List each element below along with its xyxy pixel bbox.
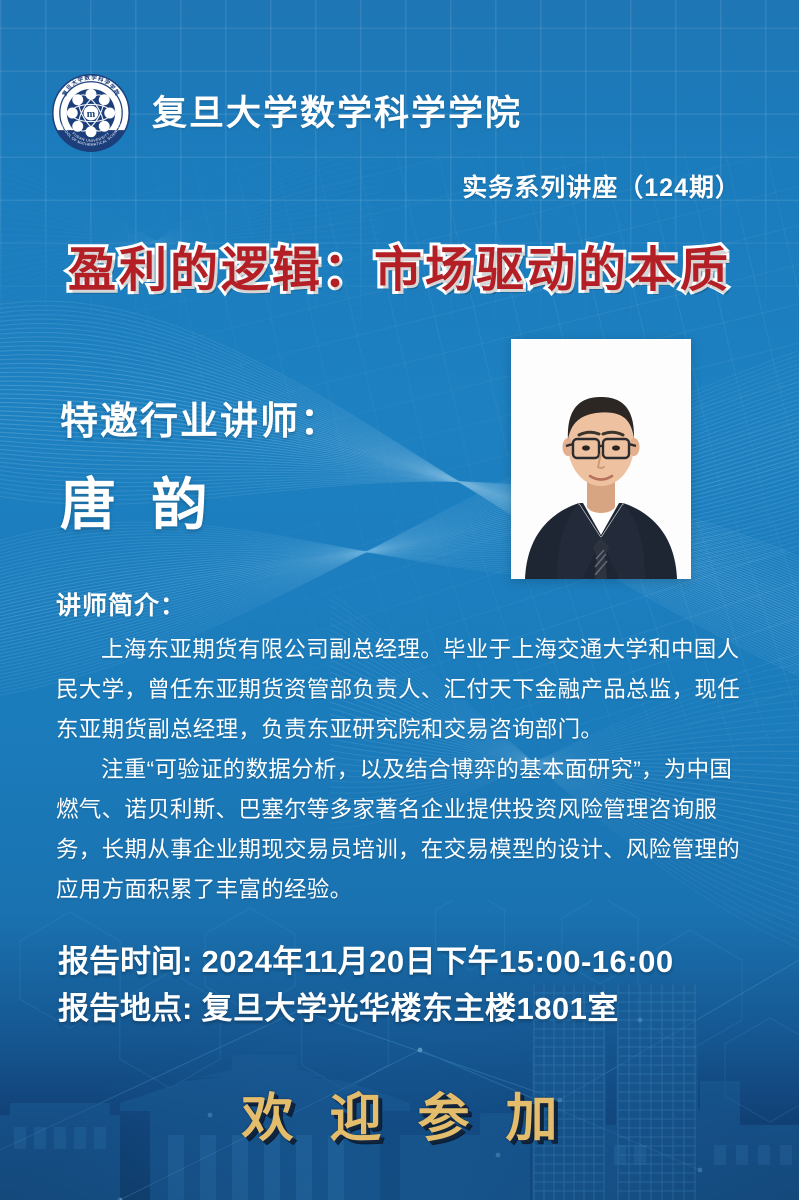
welcome-message: 欢迎参加 (0, 1076, 799, 1151)
bio-paragraph: 上海东亚期货有限公司副总经理。毕业于上海交通大学和中国人民大学，曾任东亚期货资管… (56, 630, 746, 750)
lecture-time-value: 2024年11月20日下午15:00-16:00 (201, 944, 673, 979)
lecture-info: 报告时间: 2024年11月20日下午15:00-16:00 报告地点: 复旦大… (58, 938, 674, 1032)
speaker-label: 特邀行业讲师： (60, 390, 340, 445)
lecture-place-value: 复旦大学光华楼东主楼1801室 (201, 991, 618, 1026)
speaker-portrait-illustration (511, 339, 691, 579)
bio-paragraph: 注重“可验证的数据分析，以及结合博弈的基本面研究”，为中国燃气、诺贝利斯、巴塞尔… (56, 750, 746, 910)
lecture-time-label: 报告时间: (58, 944, 192, 979)
speaker-name: 唐 韵 (60, 460, 218, 541)
lecture-series-label: 实务系列讲座（124期） (462, 168, 741, 204)
lecture-poster: m 复旦大学数学科学学院 SCHOOL OF MATHEMATICAL SCIE… (0, 0, 799, 1200)
speaker-bio-body: 上海东亚期货有限公司副总经理。毕业于上海交通大学和中国人民大学，曾任东亚期货资管… (56, 630, 746, 910)
fudan-math-school-seal-icon: m 复旦大学数学科学学院 SCHOOL OF MATHEMATICAL SCIE… (52, 74, 130, 152)
organization-name: 复旦大学数学科学学院 (152, 96, 522, 131)
lecture-place-label: 报告地点: (58, 991, 192, 1026)
lecture-place-row: 报告地点: 复旦大学光华楼东主楼1801室 (58, 985, 674, 1032)
svg-text:m: m (87, 109, 96, 120)
poster-title: 盈利的逻辑：市场驱动的本质 (0, 230, 799, 300)
poster-header: m 复旦大学数学科学学院 SCHOOL OF MATHEMATICAL SCIE… (52, 74, 522, 152)
speaker-portrait-photo (511, 339, 691, 579)
speaker-bio-heading: 讲师简介： (56, 586, 186, 622)
lecture-time-row: 报告时间: 2024年11月20日下午15:00-16:00 (58, 938, 674, 985)
